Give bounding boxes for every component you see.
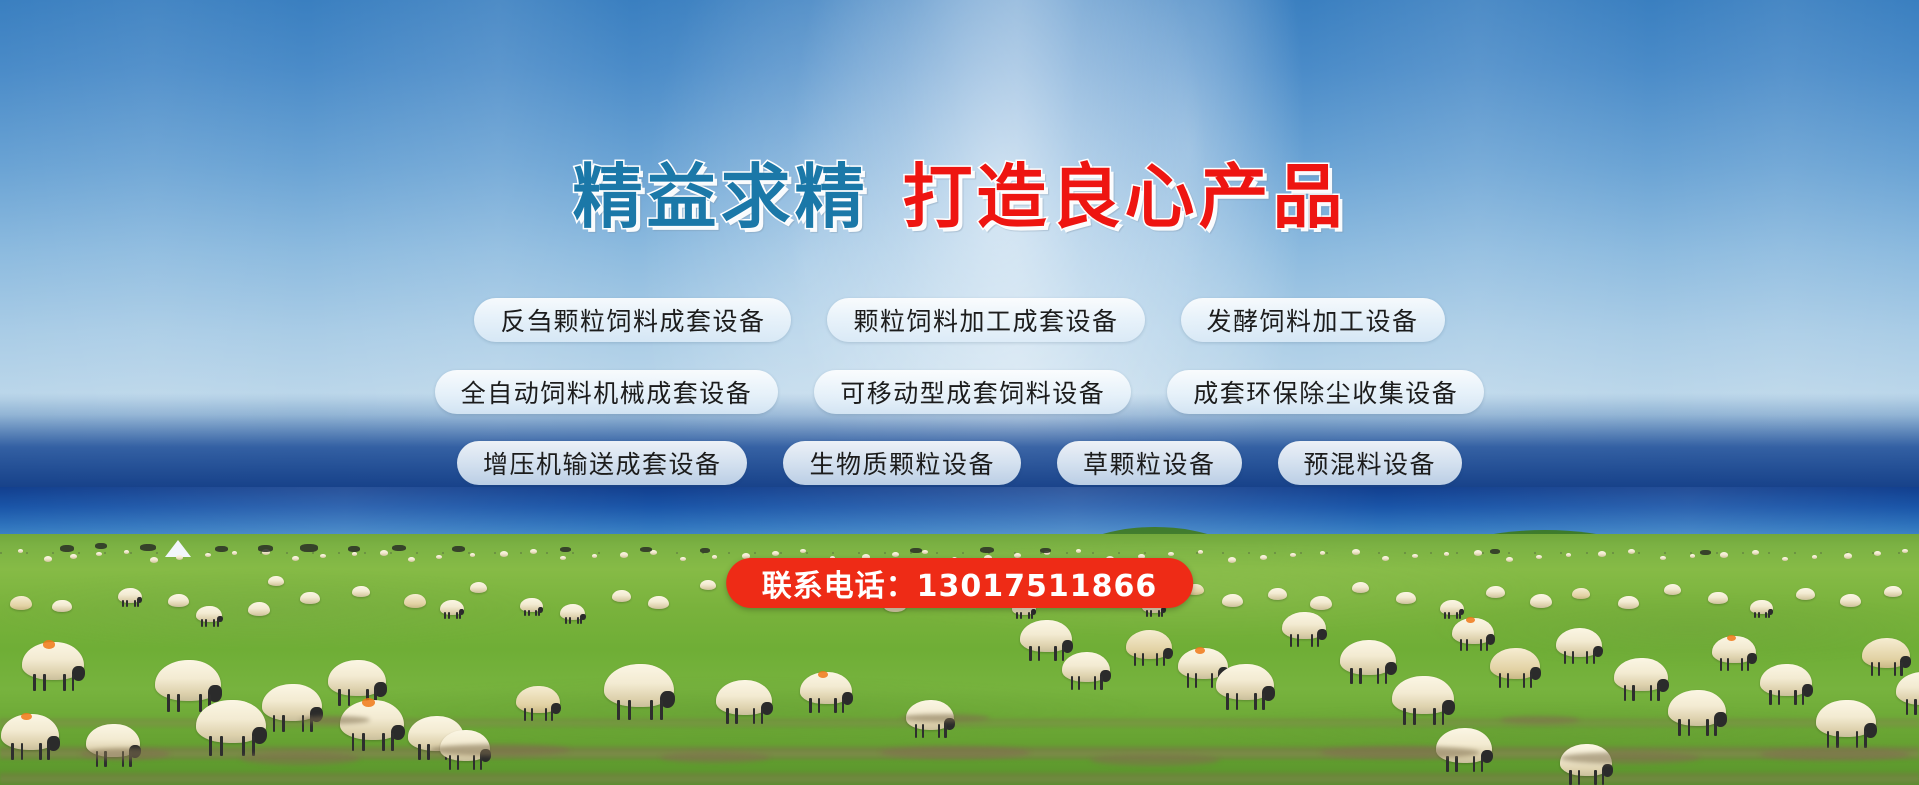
sheep-body xyxy=(1660,556,1666,560)
grazing-animal xyxy=(910,548,922,553)
sheep-distant xyxy=(1812,555,1817,559)
sheep-distant xyxy=(712,555,717,559)
sheep-leg xyxy=(1602,770,1604,785)
sheep-leg xyxy=(1297,634,1299,647)
soil-patch xyxy=(880,746,1030,759)
sheep xyxy=(1668,690,1726,726)
sheep-leg xyxy=(761,708,764,724)
sheep-body xyxy=(96,552,102,556)
sheep-leg xyxy=(1480,639,1482,651)
sheep-leg xyxy=(134,600,136,607)
sheep-leg xyxy=(1350,668,1353,684)
sheep xyxy=(1310,596,1332,610)
sheep-leg xyxy=(1714,719,1717,736)
sheep-distant xyxy=(1260,555,1267,560)
sheep xyxy=(716,680,772,715)
sheep-body xyxy=(232,551,237,555)
sheep-leg xyxy=(1236,693,1239,710)
sheep xyxy=(352,586,370,597)
sheep-leg xyxy=(726,708,729,724)
sheep xyxy=(1352,582,1369,593)
sheep-leg xyxy=(1594,770,1596,785)
sheep-leg xyxy=(1211,673,1213,687)
sheep-leg xyxy=(177,694,180,713)
sheep-leg xyxy=(1741,658,1743,671)
sheep xyxy=(1490,648,1540,679)
sheep-body xyxy=(1382,556,1389,561)
sheep-body xyxy=(500,551,508,557)
sheep xyxy=(1816,700,1876,737)
grazing-animal xyxy=(452,546,465,552)
sheep-distant xyxy=(124,550,129,554)
sheep-leg xyxy=(628,700,631,720)
sheep-leg xyxy=(617,700,620,720)
sheep-leg xyxy=(660,700,663,720)
sheep-leg xyxy=(650,700,653,720)
sheep-leg xyxy=(220,736,223,756)
sheep-leg xyxy=(1650,685,1652,700)
sheep-body xyxy=(1352,549,1360,555)
sheep-leg xyxy=(72,674,75,692)
sheep-leg xyxy=(201,619,203,626)
sheep-leg xyxy=(43,674,46,692)
sheep-body xyxy=(1320,551,1325,555)
sheep-body xyxy=(1708,592,1728,604)
sheep-body xyxy=(44,556,52,562)
sheep-body xyxy=(700,580,716,590)
sheep-leg xyxy=(1146,610,1148,617)
sheep-leg xyxy=(809,698,811,713)
sheep-leg xyxy=(1226,693,1229,710)
sheep-distant xyxy=(70,554,77,559)
sheep xyxy=(1440,600,1464,615)
sheep-leg xyxy=(1158,610,1160,617)
sheep-leg xyxy=(1632,685,1634,700)
sheep-body xyxy=(1076,549,1081,553)
grazing-animal xyxy=(640,547,652,552)
sheep xyxy=(1530,594,1552,608)
sheep-body xyxy=(205,553,211,557)
sheep-distant xyxy=(96,552,102,556)
sheep-distant xyxy=(1290,553,1296,557)
product-tag[interactable]: 成套环保除尘收集设备 xyxy=(1167,370,1484,414)
sheep-leg xyxy=(842,698,844,713)
sheep-leg xyxy=(1054,646,1056,661)
sheep-body xyxy=(470,582,487,593)
sheep xyxy=(1884,586,1902,597)
sheep-leg xyxy=(1433,708,1436,726)
sheep-distant xyxy=(408,557,415,562)
sheep-body xyxy=(168,594,189,607)
sheep-leg xyxy=(1100,676,1102,690)
sheep-leg xyxy=(938,724,940,738)
sheep-body xyxy=(592,554,597,558)
sheep-distant xyxy=(592,554,597,558)
sheep-distant xyxy=(892,552,899,557)
sheep-leg xyxy=(1029,646,1031,661)
sheep-leg xyxy=(167,694,170,713)
sheep xyxy=(1392,676,1454,714)
sheep-body xyxy=(1752,550,1759,555)
sheep-leg xyxy=(535,610,537,617)
sheep-body xyxy=(1168,552,1174,556)
product-tag[interactable]: 增压机输送成套设备 xyxy=(457,441,748,485)
sheep-leg xyxy=(362,733,365,751)
lake-shimmer xyxy=(0,487,1919,537)
sheep-distant xyxy=(530,549,537,554)
sheep xyxy=(1750,600,1773,614)
sheep-distant xyxy=(1382,556,1389,561)
sheep xyxy=(1572,588,1590,599)
sheep-body xyxy=(922,550,928,554)
sheep-body xyxy=(612,590,631,602)
sheep-distant xyxy=(1536,555,1542,559)
sheep-distant xyxy=(1902,549,1908,553)
sheep-leg xyxy=(449,755,451,769)
sheep-leg xyxy=(137,600,139,607)
sheep-leg xyxy=(282,715,285,732)
sheep-leg xyxy=(205,619,207,626)
sheep-body xyxy=(268,576,284,586)
sheep xyxy=(604,664,674,707)
sheep-body xyxy=(680,557,686,561)
sheep-distant xyxy=(1782,557,1788,561)
sheep xyxy=(1020,620,1072,652)
sheep-distant xyxy=(1506,557,1513,562)
sheep-body xyxy=(1444,552,1449,556)
sheep-distant xyxy=(500,551,508,557)
sheep-leg xyxy=(834,698,836,713)
grazing-animal xyxy=(215,546,228,552)
sheep-distant xyxy=(1752,550,1759,555)
sheep-body xyxy=(1566,553,1571,557)
sheep-leg xyxy=(63,674,66,692)
sheep-distant xyxy=(205,553,211,557)
sheep xyxy=(700,580,716,590)
sheep-leg xyxy=(1460,639,1462,651)
sheep-leg xyxy=(448,612,450,619)
soil-patch xyxy=(240,752,360,765)
sheep xyxy=(1796,588,1815,600)
headline-blue-text: 精益求精 xyxy=(573,162,869,232)
sheep xyxy=(1708,592,1728,604)
sheep-distant xyxy=(1228,557,1236,563)
product-tag-row-1: 反刍颗粒饲料成套设备 颗粒饲料加工成套设备 发酵饲料加工设备 xyxy=(0,298,1919,342)
sheep-leg xyxy=(524,610,526,617)
sheep-leg xyxy=(915,724,917,738)
sheep-distant xyxy=(800,549,806,553)
sheep-leg xyxy=(1016,612,1018,619)
sheep-body xyxy=(300,592,320,604)
sheep-distant xyxy=(772,551,779,556)
sheep-body xyxy=(1198,550,1203,554)
sheep-body xyxy=(248,602,270,616)
sheep-body xyxy=(292,556,299,561)
sheep xyxy=(1486,586,1505,598)
sheep xyxy=(1452,618,1494,644)
product-tag[interactable]: 颗粒饲料加工成套设备 xyxy=(827,298,1144,342)
sheep-leg xyxy=(213,619,215,626)
sheep-body xyxy=(1290,553,1296,557)
sheep-leg xyxy=(1038,646,1040,661)
sheep-leg xyxy=(1754,612,1756,619)
sheep-leg xyxy=(1624,685,1626,700)
sheep-body xyxy=(70,554,77,559)
sheep xyxy=(118,588,142,603)
sheep xyxy=(648,596,669,609)
sheep-leg xyxy=(1150,610,1152,617)
sheep xyxy=(1896,672,1919,705)
sheep-distant xyxy=(1474,550,1482,556)
sheep xyxy=(1282,612,1326,639)
sheep-distant xyxy=(1076,549,1081,553)
sheep-body xyxy=(470,553,475,557)
sheep-distant xyxy=(1198,550,1203,554)
sheep-body xyxy=(1530,594,1552,608)
sheep-leg xyxy=(427,744,430,760)
sheep xyxy=(22,642,84,680)
sheep-leg xyxy=(1778,690,1780,705)
sheep-body xyxy=(800,549,806,553)
product-tag[interactable]: 生物质颗粒设备 xyxy=(783,441,1021,485)
sheep-leg xyxy=(1254,693,1257,710)
sheep-leg xyxy=(1486,639,1488,651)
sheep-body xyxy=(892,552,899,557)
sheep-body xyxy=(1618,596,1639,609)
soil-patch xyxy=(1500,716,1580,724)
sheep-leg xyxy=(577,617,579,624)
hero-banner: 精益求精打造良心产品 反刍颗粒饲料成套设备 颗粒饲料加工成套设备 发酵饲料加工设… xyxy=(0,0,1919,785)
sheep-distant xyxy=(1320,551,1325,555)
sheep-body xyxy=(1840,594,1861,607)
sheep xyxy=(1268,588,1287,600)
sheep-distant xyxy=(470,553,475,557)
sheep-body xyxy=(1506,557,1513,562)
sheep-distant xyxy=(1690,554,1695,558)
sheep-leg xyxy=(1317,634,1319,647)
sheep-leg xyxy=(1455,756,1458,772)
sheep-body xyxy=(712,555,717,559)
grazing-animal xyxy=(1490,549,1500,554)
sheep-leg xyxy=(1864,731,1867,748)
sheep-body xyxy=(1228,557,1236,563)
sheep-body xyxy=(176,555,183,560)
sheep-body xyxy=(530,549,537,554)
sheep-body xyxy=(320,554,326,558)
sheep-leg xyxy=(33,674,36,692)
sheep-distant xyxy=(44,556,52,562)
sheep-body xyxy=(150,557,158,563)
sheep xyxy=(1222,594,1243,607)
sheep-leg xyxy=(1906,699,1908,714)
sheep-leg xyxy=(21,743,24,760)
sheep xyxy=(262,684,322,721)
sheep xyxy=(440,600,464,615)
sheep-leg xyxy=(1706,719,1709,736)
sheep-distant xyxy=(1720,552,1728,558)
sheep xyxy=(1862,638,1910,668)
sheep-body xyxy=(772,551,779,556)
sheep-body xyxy=(404,594,426,608)
sheep-leg xyxy=(1142,653,1144,666)
sheep-body xyxy=(1396,592,1416,604)
sheep-distant xyxy=(150,557,158,563)
sheep-leg xyxy=(1413,708,1416,726)
sheep-body xyxy=(1310,596,1332,610)
sheep-leg xyxy=(382,733,385,751)
sheep-body xyxy=(1664,584,1681,595)
sheep-distant xyxy=(1598,551,1606,557)
sheep xyxy=(328,660,386,696)
sheep-leg xyxy=(1031,612,1033,619)
sheep xyxy=(248,602,270,616)
product-tag[interactable]: 草颗粒设备 xyxy=(1057,441,1242,485)
sheep xyxy=(1062,652,1110,682)
sheep xyxy=(1126,630,1172,659)
sheep xyxy=(1618,596,1639,609)
sheep-leg xyxy=(1187,673,1189,687)
sheep-leg xyxy=(1572,651,1574,664)
sheep-body xyxy=(1352,582,1369,593)
sheep-leg xyxy=(1523,673,1525,687)
sheep-body xyxy=(1628,549,1635,554)
sheep-leg xyxy=(11,743,14,760)
sheep xyxy=(404,594,426,608)
sheep xyxy=(560,604,585,620)
sheep-leg xyxy=(1856,731,1859,748)
sheep-body xyxy=(1260,555,1267,560)
sheep xyxy=(268,576,284,586)
product-tag[interactable]: 反刍颗粒饲料成套设备 xyxy=(474,298,791,342)
sheep xyxy=(196,700,266,743)
sheep-body xyxy=(1782,557,1788,561)
contact-phone-badge[interactable]: 联系电话：13017511866 xyxy=(726,558,1194,608)
sheep-leg xyxy=(551,708,553,721)
sheep xyxy=(520,598,543,612)
sheep-leg xyxy=(1359,668,1362,684)
sheep xyxy=(1760,664,1812,696)
grazing-animal xyxy=(95,543,107,549)
sheep-distant xyxy=(1168,552,1174,556)
sheep-leg xyxy=(459,612,461,619)
sheep xyxy=(516,686,560,713)
sheep-body xyxy=(124,550,129,554)
sheep-body xyxy=(352,552,357,556)
sheep xyxy=(1556,628,1602,657)
soil-patch xyxy=(1320,746,1480,759)
sheep-leg xyxy=(1657,685,1659,700)
sheep-leg xyxy=(252,736,255,756)
sheep-leg xyxy=(1688,719,1691,736)
sheep-body xyxy=(1874,551,1881,556)
grazing-animal xyxy=(258,545,273,552)
sheep-leg xyxy=(457,755,459,769)
soil-patch xyxy=(300,716,370,724)
sheep-distant xyxy=(1628,549,1635,554)
sheep-leg xyxy=(1311,634,1313,647)
sheep xyxy=(1216,664,1274,700)
sheep-leg xyxy=(1262,693,1265,710)
sheep-leg xyxy=(1720,658,1722,671)
sheep-leg xyxy=(1195,673,1197,687)
soil-band xyxy=(0,770,1919,785)
sheep-leg xyxy=(418,744,421,760)
sheep-body xyxy=(1536,555,1542,559)
soil-patch xyxy=(1760,748,1910,761)
sheep-leg xyxy=(1765,612,1767,619)
sheep-body xyxy=(1902,549,1908,553)
sheep-leg xyxy=(1836,731,1839,748)
sheep-body xyxy=(1572,588,1590,599)
sheep-body xyxy=(560,556,566,560)
sheep-leg xyxy=(1020,612,1022,619)
sheep-distant xyxy=(1352,549,1360,555)
sheep-leg xyxy=(1593,651,1595,664)
sheep-leg xyxy=(1071,676,1073,690)
sheep-body xyxy=(1796,588,1815,600)
product-tag[interactable]: 可移动型成套饲料设备 xyxy=(814,370,1131,414)
sheep-leg xyxy=(217,619,219,626)
sheep-leg xyxy=(1769,690,1771,705)
sheep-leg xyxy=(1871,662,1873,676)
sheep xyxy=(52,600,72,612)
sheep-leg xyxy=(1530,673,1532,687)
sheep-leg xyxy=(1507,673,1509,687)
sheep-distant xyxy=(680,557,686,561)
sheep-body xyxy=(1486,586,1505,598)
sheep-distant xyxy=(620,552,628,558)
product-tag[interactable]: 全自动饲料机械成套设备 xyxy=(435,370,779,414)
grazing-animal xyxy=(392,545,406,551)
sheep-leg xyxy=(1747,658,1749,671)
sheep xyxy=(470,582,487,593)
sheep xyxy=(1340,640,1396,675)
product-tag[interactable]: 预混料设备 xyxy=(1278,441,1463,485)
product-tag-row-3: 增压机输送成套设备 生物质颗粒设备 草颗粒设备 预混料设备 xyxy=(0,441,1919,485)
grazing-animal xyxy=(560,547,571,552)
page-title: 精益求精打造良心产品 xyxy=(0,162,1919,232)
grazing-animal xyxy=(1040,548,1051,553)
sheep-body xyxy=(1268,588,1287,600)
sheep xyxy=(155,660,221,701)
soil-patch xyxy=(900,714,990,722)
sheep-leg xyxy=(1914,699,1916,714)
sheep-leg xyxy=(1678,719,1681,736)
sheep-leg xyxy=(352,733,355,751)
sheep-distant xyxy=(1660,556,1666,560)
sheep xyxy=(1840,594,1861,607)
grazing-animal xyxy=(300,544,318,552)
sheep-body xyxy=(1844,553,1852,559)
sheep-leg xyxy=(126,600,128,607)
sheep-leg xyxy=(1794,690,1796,705)
sheep-leg xyxy=(545,708,547,721)
sheep xyxy=(300,592,320,604)
sheep-leg xyxy=(1802,690,1804,705)
sheep-leg xyxy=(1442,708,1445,726)
sheep-distant xyxy=(436,555,442,559)
sheep-distant xyxy=(380,550,388,556)
grazing-animal xyxy=(348,546,360,552)
soil-patch xyxy=(1090,754,1220,766)
sheep-body xyxy=(352,586,370,597)
sheep-body xyxy=(380,550,388,556)
sheep-distant xyxy=(922,550,928,554)
product-tag[interactable]: 发酵饲料加工设备 xyxy=(1181,298,1445,342)
sheep-leg xyxy=(444,612,446,619)
sheep-distant xyxy=(1844,553,1852,559)
soil-patch xyxy=(80,748,170,760)
